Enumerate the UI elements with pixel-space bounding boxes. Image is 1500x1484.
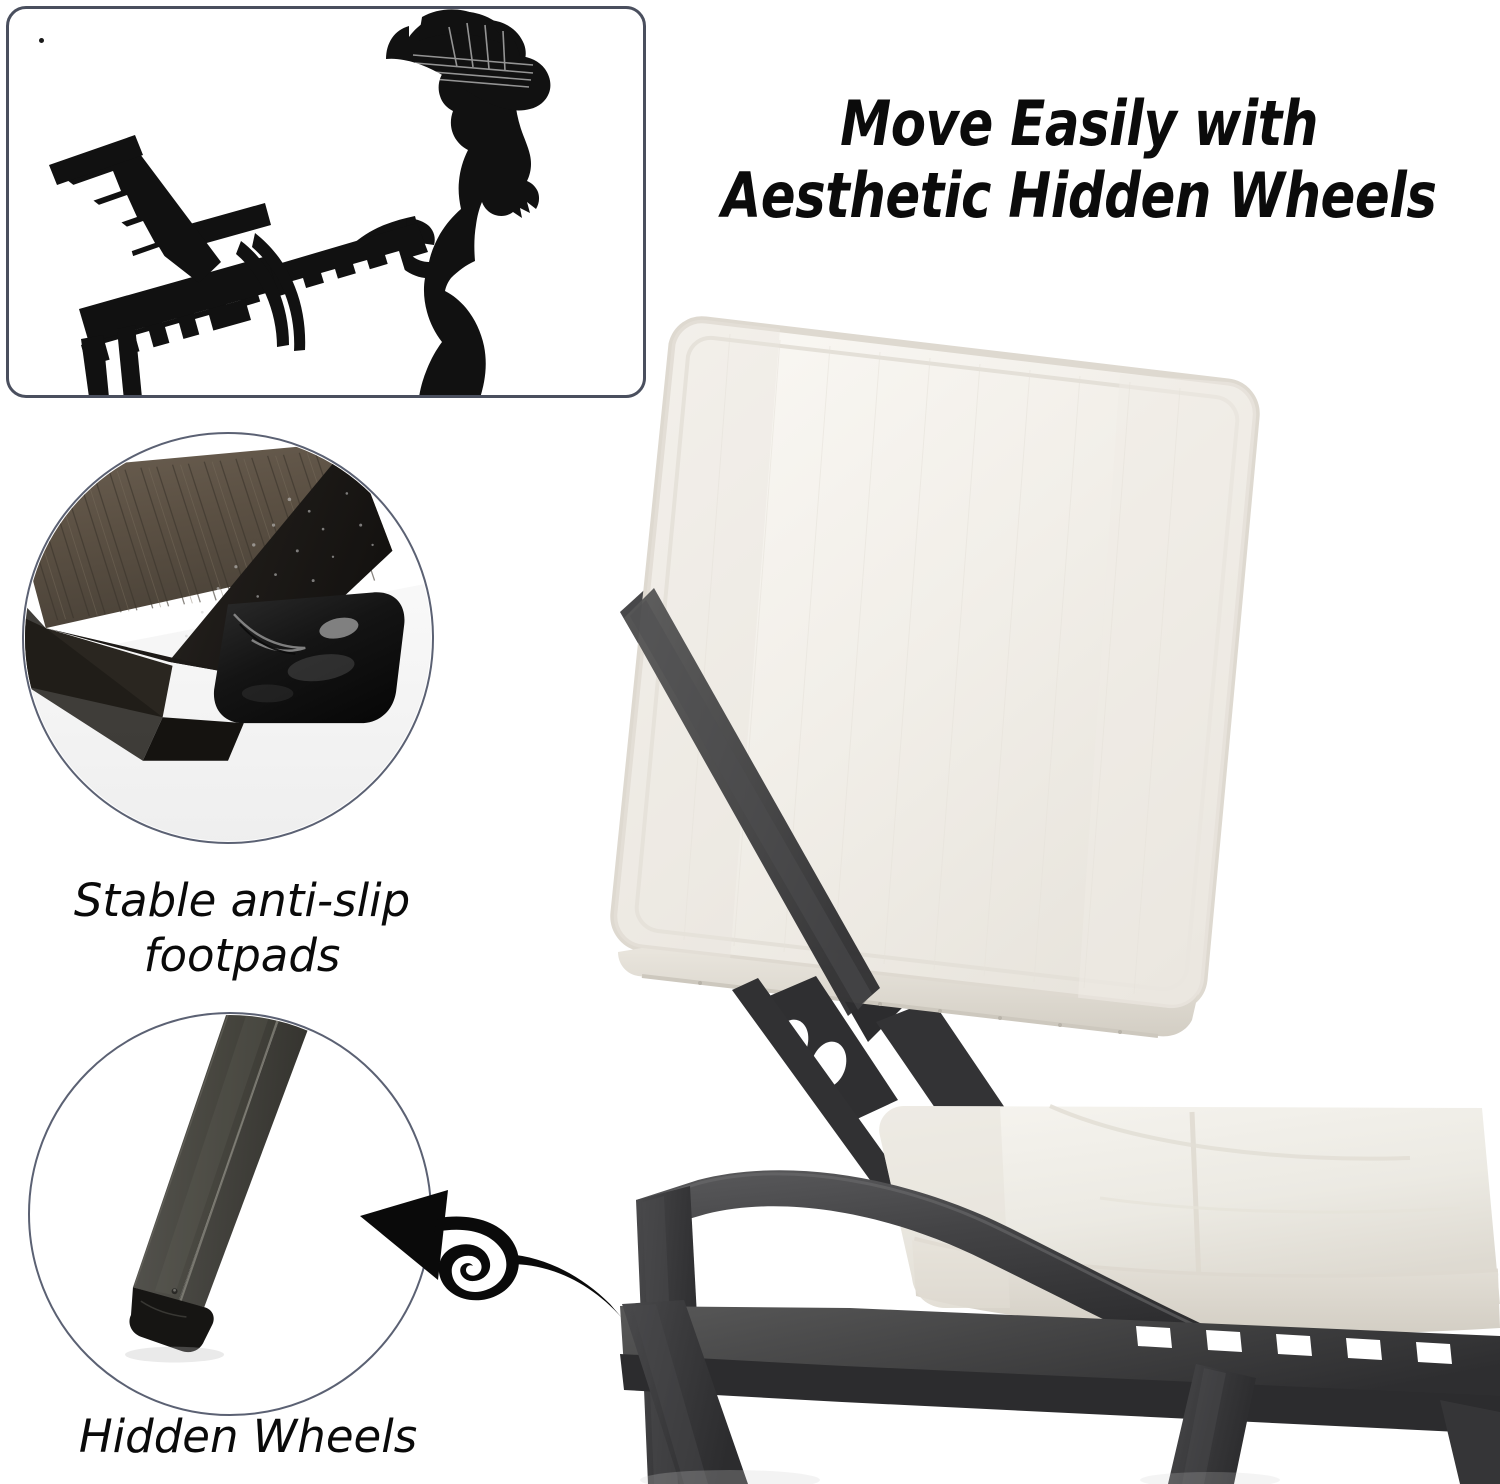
- hidden-wheels-caption: Hidden Wheels: [18, 1410, 478, 1465]
- hidden-wheels-caption-line-1: Hidden Wheels: [79, 1410, 417, 1463]
- chaise-lounge-illustration: [580, 300, 1500, 1484]
- hidden-wheel-leg-photo: [30, 1014, 430, 1414]
- detail-footpads: Stable anti-slip footpads: [22, 432, 434, 844]
- footpad-closeup-circle: [22, 432, 434, 844]
- footpads-caption-line-1: Stable anti-slip: [74, 874, 410, 927]
- chaise-lounge-product-photo: [580, 300, 1500, 1484]
- headline-line-2: Aesthetic Hidden Wheels: [694, 160, 1465, 232]
- silhouette-panel: [6, 6, 646, 398]
- product-feature-graphic: Move Easily with Aesthetic Hidden Wheels: [0, 0, 1500, 1484]
- hidden-wheels-closeup-circle: [28, 1012, 432, 1416]
- detail-hidden-wheels: Hidden Wheels: [28, 1012, 432, 1416]
- woman-pulling-chaise-silhouette-icon: [9, 9, 643, 395]
- anti-slip-footpad-photo: [24, 434, 432, 842]
- footpads-caption: Stable anti-slip footpads: [12, 874, 472, 984]
- page-title: Move Easily with Aesthetic Hidden Wheels: [660, 88, 1498, 232]
- headline-line-1: Move Easily with: [694, 88, 1465, 160]
- footpads-caption-line-2: footpads: [144, 929, 341, 982]
